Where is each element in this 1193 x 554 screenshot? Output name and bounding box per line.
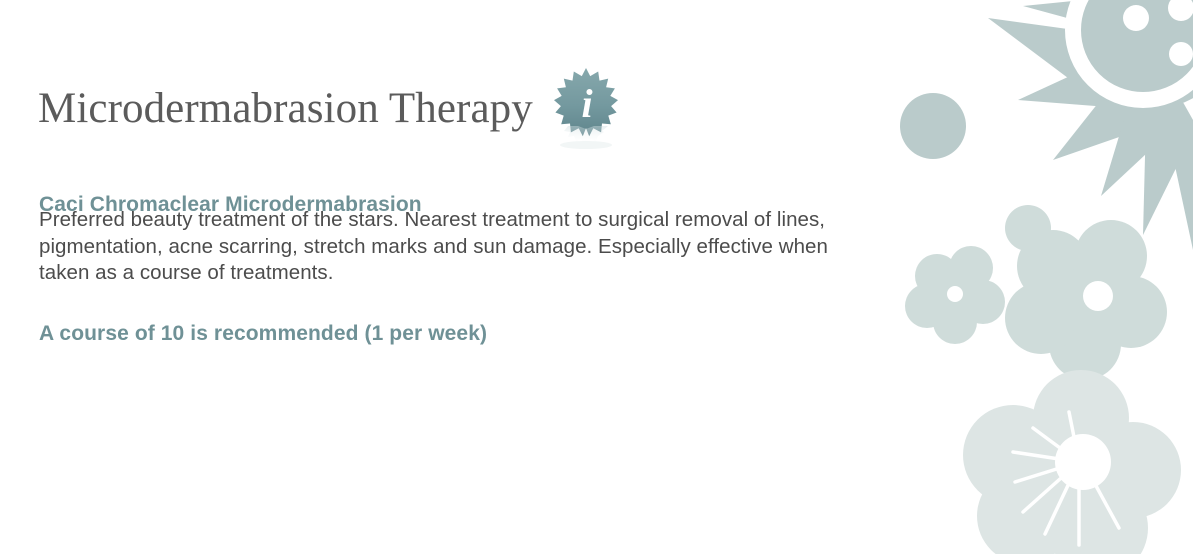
page-title: Microdermabrasion Therapy (38, 87, 533, 130)
description-line: pigmentation, acne scarring, stretch mar… (39, 234, 1049, 261)
title-row: Microdermabrasion Therapy (38, 58, 618, 159)
content-area: Microdermabrasion Therapy (38, 0, 1048, 554)
treatment-description: Preferred beauty treatment of the stars.… (39, 207, 1049, 287)
description-line: taken as a course of treatments. (39, 260, 1049, 287)
svg-text:i: i (581, 81, 592, 126)
brochure-page: Microdermabrasion Therapy (0, 0, 1193, 554)
info-icon[interactable]: i (554, 67, 618, 149)
description-line: Preferred beauty treatment of the stars.… (39, 207, 1049, 234)
course-recommendation: A course of 10 is recommended (1 per wee… (39, 322, 487, 346)
